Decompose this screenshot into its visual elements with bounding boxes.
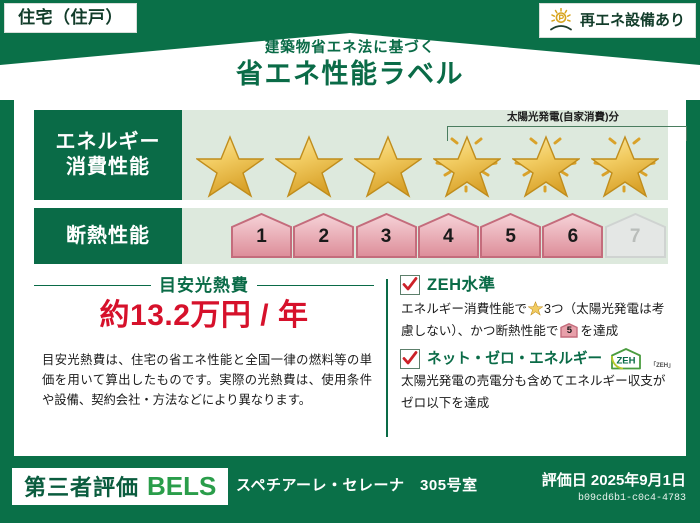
grade-number: 3 xyxy=(355,227,418,246)
grade-badge-number: 5 xyxy=(560,326,578,336)
grade-item: 5 xyxy=(479,213,541,259)
utility-cost-panel: 目安光熱費 約13.2万円 / 年 目安光熱費は、住宅の省エネ性能と全国一律の燃… xyxy=(34,275,374,441)
energy-label-line1: エネルギー xyxy=(56,130,161,155)
energy-row-header: エネルギー 消費性能 xyxy=(34,110,182,200)
evaluation-id: b09cd6b1-c0c4-4783 xyxy=(542,492,686,505)
dwelling-type-label: 住宅（住戸） xyxy=(18,8,123,27)
evaluation-info: 評価日 2025年9月1日 b09cd6b1-c0c4-4783 xyxy=(542,472,686,505)
label-header: 住宅（住戸） xyxy=(0,0,700,100)
cost-title-row: 目安光熱費 xyxy=(34,277,374,294)
grade-item: 1 xyxy=(230,213,292,259)
rule-left xyxy=(34,285,151,287)
star-item xyxy=(190,127,269,197)
bels-jp-text: 第三者評価 xyxy=(24,477,139,499)
rule-right xyxy=(257,285,374,287)
svg-text:ZEH: ZEH xyxy=(617,356,636,367)
bels-logo: 第三者評価 BELS xyxy=(12,468,228,505)
grade-number: 2 xyxy=(292,227,355,246)
insulation-performance-row: 断熱性能 1 2 3 4 xyxy=(34,208,668,264)
solar-sun-icon xyxy=(548,8,574,32)
criteria-zeh-level-header: ZEH水準 xyxy=(400,275,496,295)
red-checkmark-icon xyxy=(402,350,418,367)
bels-energy-label: 住宅（住戸） xyxy=(0,0,700,523)
renewable-equipment-tag: 再エネ設備あり xyxy=(539,3,696,38)
grade-item: 4 xyxy=(417,213,479,259)
criteria-panel: ZEH水準 エネルギー消費性能で3つ（太陽光発電は考慮しない）、かつ断熱性能で5… xyxy=(400,275,668,441)
section-divider xyxy=(386,279,388,437)
grade-badge-icon: 5 xyxy=(560,323,578,338)
checkbox-zeh-level xyxy=(400,275,420,295)
star-icon xyxy=(528,301,543,316)
label-bottom-section: 目安光熱費 約13.2万円 / 年 目安光熱費は、住宅の省エネ性能と全国一律の燃… xyxy=(34,275,668,441)
zeh-logo-sublabel: 「ZEH」 xyxy=(650,363,674,369)
criteria-zeh-description: エネルギー消費性能で3つ（太陽光発電は考慮しない）、かつ断熱性能で5を達成 xyxy=(401,299,669,342)
grade-number: 6 xyxy=(541,227,604,246)
star-item xyxy=(348,127,427,197)
star-item-solar xyxy=(506,127,585,197)
grade-number: 4 xyxy=(417,227,480,246)
cost-note: 目安光熱費は、住宅の省エネ性能と全国一律の燃料等の単価を用いて算出したものです。… xyxy=(42,351,372,411)
star-item-solar xyxy=(427,127,506,197)
desc-text-3: を達成 xyxy=(580,324,618,338)
evaluation-date: 評価日 2025年9月1日 xyxy=(542,472,686,490)
checkbox-net-zero xyxy=(400,349,420,369)
title-main: 省エネ性能ラベル xyxy=(0,59,700,90)
energy-label-line2: 消費性能 xyxy=(66,155,150,180)
label-footer: 第三者評価 BELS スペチアーレ・セレーナ 305号室 評価日 2025年9月… xyxy=(0,462,700,523)
grade-number: 7 xyxy=(604,227,667,246)
bels-en-text: BELS xyxy=(147,473,216,499)
insulation-grade-scale: 1 2 3 4 5 xyxy=(190,208,666,264)
star-item xyxy=(269,127,348,197)
energy-star-rating xyxy=(190,110,666,200)
energy-performance-row: エネルギー 消費性能 太陽光発電(自家消費)分 xyxy=(34,110,668,200)
grade-number: 1 xyxy=(230,227,293,246)
grade-item: 3 xyxy=(355,213,417,259)
title-subtitle: 建築物省エネ法に基づく xyxy=(0,41,700,57)
dwelling-type-tag: 住宅（住戸） xyxy=(4,3,137,33)
grade-item-inactive: 7 xyxy=(604,213,666,259)
criteria-zeh-label: ZEH水準 xyxy=(427,277,496,294)
renewable-equipment-label: 再エネ設備あり xyxy=(580,13,685,28)
grade-item: 6 xyxy=(541,213,603,259)
label-card: エネルギー 消費性能 太陽光発電(自家消費)分 xyxy=(14,95,686,456)
star-item-solar xyxy=(585,127,664,197)
criteria-net-zero-description: 太陽光発電の売電分も含めてエネルギー収支がゼロ以下を達成 xyxy=(401,371,669,414)
grade-item: 2 xyxy=(292,213,354,259)
property-name: スペチアーレ・セレーナ 305号室 xyxy=(236,478,478,493)
cost-value: 約13.2万円 / 年 xyxy=(34,299,374,332)
insulation-row-header: 断熱性能 xyxy=(34,208,182,264)
label-title-block: 建築物省エネ法に基づく 省エネ性能ラベル xyxy=(0,41,700,90)
insulation-label: 断熱性能 xyxy=(66,224,150,249)
grade-number: 5 xyxy=(479,227,542,246)
criteria-net-zero-header: ネット・ゼロ・エネルギー ZEH 「ZEH」 xyxy=(400,347,674,371)
zeh-house-logo-icon: ZEH xyxy=(609,347,643,371)
red-checkmark-icon xyxy=(402,276,418,293)
desc-text-1: エネルギー消費性能で xyxy=(401,302,527,316)
cost-title: 目安光熱費 xyxy=(159,277,249,294)
criteria-net-zero-label: ネット・ゼロ・エネルギー xyxy=(427,352,602,367)
